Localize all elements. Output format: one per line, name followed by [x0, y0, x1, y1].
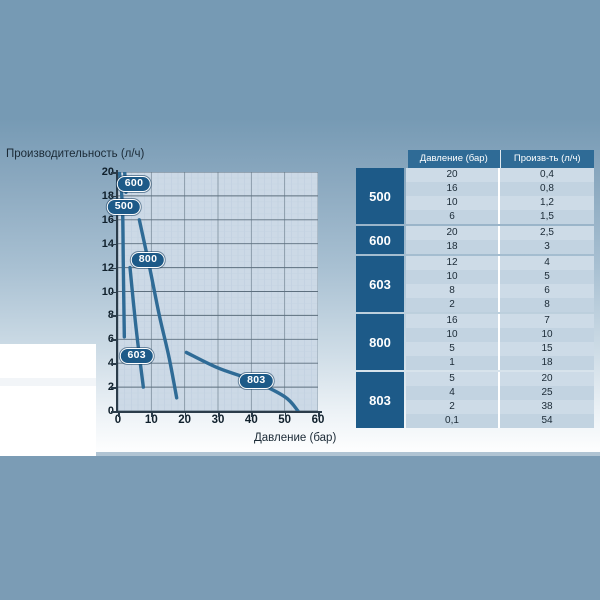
cell-flow: 54 [500, 414, 594, 428]
cell-pressure: 5 [406, 372, 500, 386]
x-axis-ticks: 0102030405060 [118, 414, 318, 434]
cell-pressure: 4 [406, 386, 500, 400]
table-row: 238 [406, 400, 594, 414]
background-band-top [0, 0, 600, 118]
cell-flow: 0,8 [500, 182, 594, 196]
cell-pressure: 5 [406, 342, 500, 356]
y-tickmark [111, 411, 117, 413]
y-axis-label: Производительность (л/ч) [6, 148, 144, 160]
table-group-rows: 200,4160,8101,261,5 [406, 168, 594, 224]
table-group: 8001671010515118 [356, 314, 594, 370]
table-row: 515 [406, 342, 594, 356]
table-header-flow: Произв-ть (л/ч) [501, 150, 595, 168]
curve-label-500: 500 [107, 199, 141, 215]
y-tickmark [111, 363, 117, 365]
cell-flow: 3 [500, 240, 594, 254]
table-row: 183 [406, 240, 594, 254]
table-body: 500200,4160,8101,261,5600202,51836031241… [356, 168, 594, 428]
cell-pressure: 10 [406, 196, 500, 210]
curve-label-803: 803 [239, 373, 273, 389]
table-row: 520 [406, 372, 594, 386]
curve-label-600: 600 [117, 176, 151, 192]
table-group-label-800: 800 [356, 314, 404, 370]
cell-flow: 1,5 [500, 210, 594, 224]
cell-pressure: 20 [406, 226, 500, 240]
y-tickmark [111, 387, 117, 389]
table-header-pressure: Давление (бар) [408, 150, 501, 168]
cell-pressure: 16 [406, 182, 500, 196]
table-group-rows: 5204252380,154 [406, 372, 594, 428]
cell-pressure: 18 [406, 240, 500, 254]
table-group-rows: 202,5183 [406, 226, 594, 254]
white-panel-block-seam [0, 378, 96, 386]
cell-flow: 38 [500, 400, 594, 414]
table-row: 1010 [406, 328, 594, 342]
x-tickmark [318, 411, 320, 417]
table-group: 6031241058628 [356, 256, 594, 312]
cell-flow: 0,4 [500, 168, 594, 182]
cell-pressure: 20 [406, 168, 500, 182]
cell-pressure: 1 [406, 356, 500, 370]
cell-flow: 5 [500, 270, 594, 284]
table-group-label-500: 500 [356, 168, 404, 224]
table-group: 8035204252380,154 [356, 372, 594, 428]
cell-flow: 7 [500, 314, 594, 328]
cell-flow: 2,5 [500, 226, 594, 240]
y-tickmark [111, 315, 117, 317]
table-row: 0,154 [406, 414, 594, 428]
background-band-bottom [0, 456, 600, 600]
table-row: 28 [406, 298, 594, 312]
table-row: 167 [406, 314, 594, 328]
cell-pressure: 16 [406, 314, 500, 328]
cell-flow: 8 [500, 298, 594, 312]
cell-pressure: 2 [406, 298, 500, 312]
x-tickmark [285, 411, 287, 417]
table-group: 600202,5183 [356, 226, 594, 254]
cell-flow: 15 [500, 342, 594, 356]
table-row: 101,2 [406, 196, 594, 210]
y-tickmark [111, 196, 117, 198]
cell-pressure: 12 [406, 256, 500, 270]
curve-label-800: 800 [131, 252, 165, 268]
cell-pressure: 0,1 [406, 414, 500, 428]
cell-flow: 18 [500, 356, 594, 370]
table-row: 425 [406, 386, 594, 400]
table-row: 86 [406, 284, 594, 298]
table-group-rows: 1671010515118 [406, 314, 594, 370]
y-tickmark [111, 220, 117, 222]
curve-label-603: 603 [119, 348, 153, 364]
y-tickmark [111, 292, 117, 294]
plot-svg [118, 172, 318, 411]
y-tickmark [111, 172, 117, 174]
table-group-rows: 1241058628 [406, 256, 594, 312]
cell-pressure: 10 [406, 270, 500, 284]
cell-pressure: 10 [406, 328, 500, 342]
y-tickmark [111, 244, 117, 246]
cell-pressure: 8 [406, 284, 500, 298]
table-group-label-603: 603 [356, 256, 404, 312]
cell-pressure: 6 [406, 210, 500, 224]
table-row: 118 [406, 356, 594, 370]
x-tickmark [218, 411, 220, 417]
table-row: 200,4 [406, 168, 594, 182]
plot-area [118, 172, 318, 411]
x-tickmark [118, 411, 120, 417]
table-row: 124 [406, 256, 594, 270]
table-group-label-600: 600 [356, 226, 404, 254]
cell-flow: 1,2 [500, 196, 594, 210]
x-tickmark [185, 411, 187, 417]
cell-flow: 25 [500, 386, 594, 400]
x-tickmark [151, 411, 153, 417]
cell-pressure: 2 [406, 400, 500, 414]
cell-flow: 20 [500, 372, 594, 386]
x-tickmark [251, 411, 253, 417]
table-row: 105 [406, 270, 594, 284]
table-group-label-803: 803 [356, 372, 404, 428]
chart-page: Производительность (л/ч) Давление (бар) … [0, 0, 600, 600]
table-row: 61,5 [406, 210, 594, 224]
cell-flow: 4 [500, 256, 594, 270]
table-row: 202,5 [406, 226, 594, 240]
specs-table: Давление (бар) Произв-ть (л/ч) 500200,41… [356, 150, 594, 430]
cell-flow: 10 [500, 328, 594, 342]
table-row: 160,8 [406, 182, 594, 196]
y-tickmark [111, 268, 117, 270]
table-header-row: Давление (бар) Произв-ть (л/ч) [408, 150, 594, 168]
cell-flow: 6 [500, 284, 594, 298]
y-tickmark [111, 339, 117, 341]
table-group: 500200,4160,8101,261,5 [356, 168, 594, 224]
